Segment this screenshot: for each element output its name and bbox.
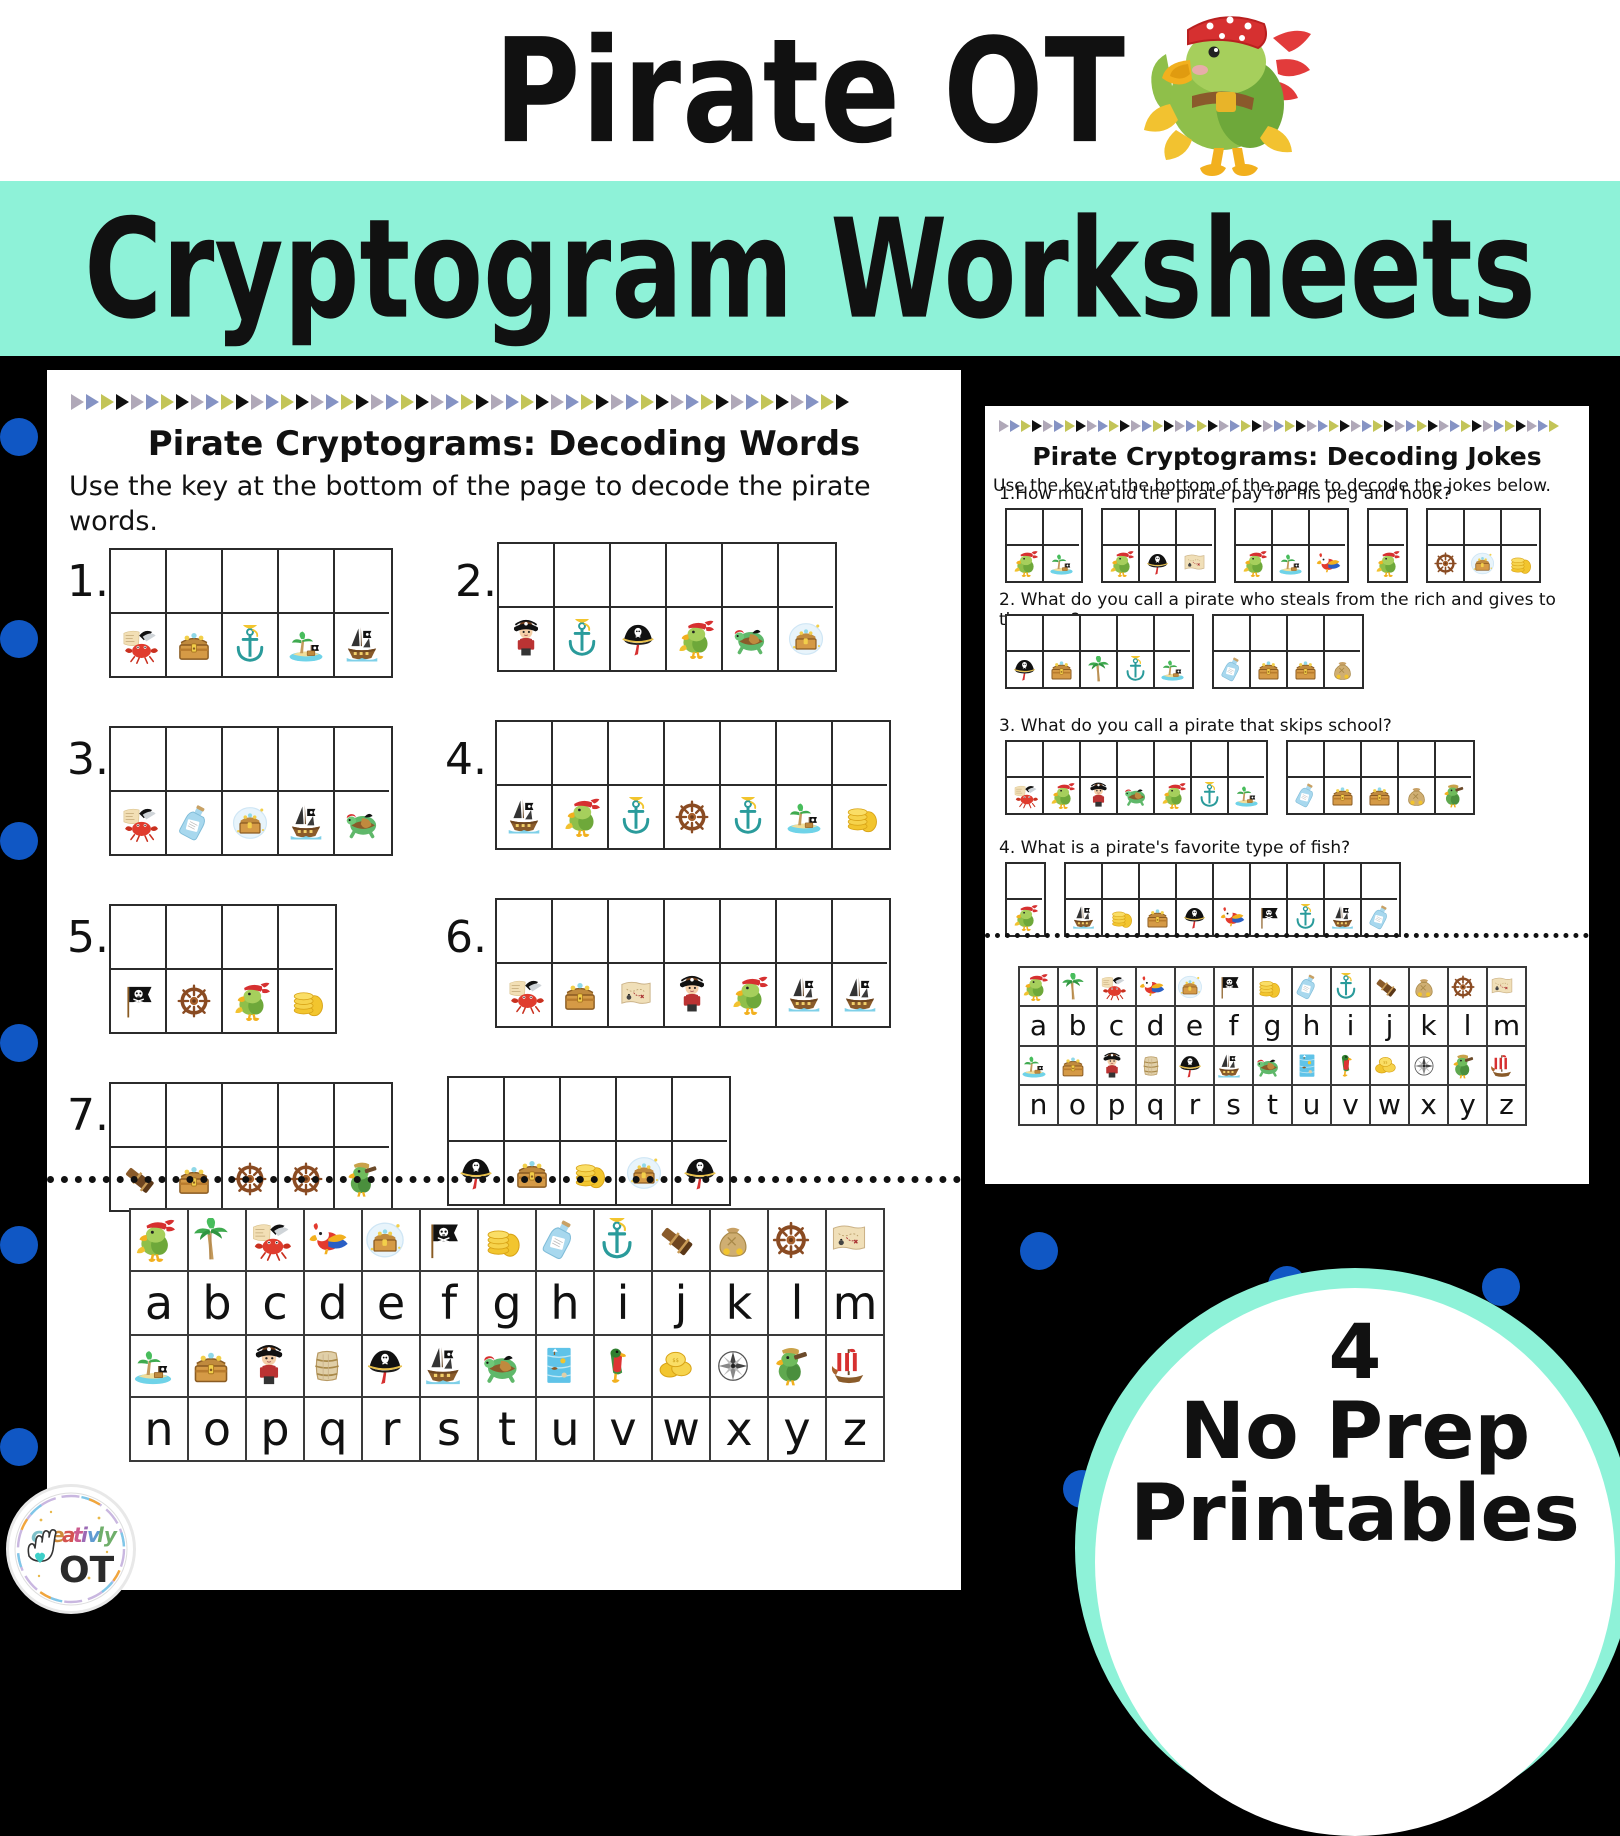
chevron-icon xyxy=(86,394,99,410)
puzzle-word-group xyxy=(1101,508,1216,583)
barrel-icon xyxy=(1137,1052,1165,1080)
puzzle-number: 4. xyxy=(445,734,487,785)
key-icon-cell xyxy=(768,1209,826,1271)
key-icon-cell xyxy=(1292,1046,1331,1085)
answer-blank[interactable] xyxy=(1251,864,1286,898)
answer-blank[interactable] xyxy=(1436,742,1471,776)
cryptogram-cell xyxy=(1251,616,1288,687)
answer-blank[interactable] xyxy=(1369,510,1404,544)
answer-blank[interactable] xyxy=(1229,742,1264,776)
answer-blank[interactable] xyxy=(1118,616,1153,650)
answer-blank[interactable] xyxy=(167,728,221,790)
answer-blank[interactable] xyxy=(553,900,607,962)
answer-blank[interactable] xyxy=(609,900,663,962)
clue-symbol xyxy=(673,1140,727,1204)
cryptogram-cell xyxy=(1288,864,1325,935)
treasure-bubble-icon xyxy=(786,619,826,659)
answer-blank[interactable] xyxy=(721,722,775,784)
answer-blank[interactable] xyxy=(779,544,833,606)
clue-symbol xyxy=(335,790,389,854)
badge-line2: Printables xyxy=(1130,1474,1580,1556)
coins-icon xyxy=(479,1218,523,1262)
answer-blank[interactable] xyxy=(167,550,221,612)
chevron-icon xyxy=(701,394,714,410)
cryptogram-cell xyxy=(777,722,833,848)
crab-icon xyxy=(504,975,544,1015)
clue-symbol xyxy=(167,968,221,1032)
key-icon-cell xyxy=(536,1335,594,1397)
pirate-hat-icon xyxy=(1144,550,1171,577)
chevron-icon xyxy=(1318,420,1328,432)
anchor-icon xyxy=(616,797,656,837)
cryptogram-cell xyxy=(1325,864,1362,935)
answer-blank[interactable] xyxy=(223,728,277,790)
answer-blank[interactable] xyxy=(111,550,165,612)
answer-blank[interactable] xyxy=(1177,864,1212,898)
spyglass-icon xyxy=(1371,973,1399,1001)
message-bottle-icon xyxy=(1218,656,1245,683)
coins-icon xyxy=(1506,550,1533,577)
clue-symbol xyxy=(1066,898,1101,935)
puzzle-word-group xyxy=(1064,862,1401,937)
svg-text:$$: $$ xyxy=(1383,1060,1387,1064)
answer-blank[interactable] xyxy=(1465,510,1500,544)
clue-symbol xyxy=(777,962,831,1026)
jolly-roger-flag-icon xyxy=(1255,904,1282,931)
cryptogram-cell xyxy=(1214,616,1251,687)
chevron-icon xyxy=(1373,420,1383,432)
answer-blank[interactable] xyxy=(1044,616,1079,650)
cryptogram-cell xyxy=(665,900,721,1026)
pirate-boy-icon xyxy=(1085,782,1112,809)
answer-blank[interactable] xyxy=(279,550,333,612)
answer-blank[interactable] xyxy=(223,1084,277,1146)
clue-symbol xyxy=(279,790,333,854)
clue-symbol xyxy=(1155,776,1190,813)
answer-blank[interactable] xyxy=(1007,864,1042,898)
key-icon-cell xyxy=(304,1209,362,1271)
pirate-boy-icon xyxy=(247,1344,291,1388)
cryptogram-cell xyxy=(279,728,335,854)
treasure-bubble-icon xyxy=(624,1153,664,1193)
clue-symbol xyxy=(617,1140,671,1204)
decor-dot xyxy=(1020,1232,1058,1270)
chevron-icon xyxy=(566,394,579,410)
ships-wheel-icon xyxy=(1432,550,1459,577)
answer-blank[interactable] xyxy=(665,722,719,784)
key-row-icons-top xyxy=(130,1209,884,1271)
chevron-icon xyxy=(1120,420,1130,432)
key-letter-cell: t xyxy=(1253,1085,1292,1125)
key-letter-cell: s xyxy=(420,1397,478,1461)
answer-blank[interactable] xyxy=(1192,742,1227,776)
money-bag-icon xyxy=(711,1218,755,1262)
chevron-icon xyxy=(1274,420,1284,432)
answer-blank[interactable] xyxy=(335,550,389,612)
cryptogram-key-table: abcdefghijklm$$nopqrstuvwxyz xyxy=(129,1208,885,1462)
chevron-icon xyxy=(446,394,459,410)
key-icon-cell xyxy=(1214,1046,1253,1085)
svg-text:OT: OT xyxy=(59,1550,115,1591)
map-icon xyxy=(1181,550,1208,577)
key-icon-cell: $$ xyxy=(1370,1046,1409,1085)
clue-symbol xyxy=(1369,544,1404,581)
parrot-red-icon xyxy=(1137,973,1165,1001)
answer-blank[interactable] xyxy=(1288,864,1323,898)
palm-tree-icon xyxy=(1059,973,1087,1001)
viking-ship-icon xyxy=(827,1344,871,1388)
puzzle-word-group xyxy=(109,726,393,856)
turtle-icon xyxy=(1254,1052,1282,1080)
answer-blank[interactable] xyxy=(673,1078,727,1140)
cryptogram-cell xyxy=(1066,864,1103,935)
answer-blank[interactable] xyxy=(1236,510,1271,544)
key-letter-cell: k xyxy=(1409,1006,1448,1046)
clue-symbol xyxy=(1044,544,1079,581)
answer-blank[interactable] xyxy=(497,722,551,784)
answer-blank[interactable] xyxy=(505,1078,559,1140)
cryptogram-cell xyxy=(1399,742,1436,813)
clue-symbol xyxy=(335,612,389,676)
answer-blank[interactable] xyxy=(167,906,221,968)
answer-blank[interactable] xyxy=(111,1084,165,1146)
answer-blank[interactable] xyxy=(497,900,551,962)
chevron-icon xyxy=(191,394,204,410)
puzzle-word-group xyxy=(109,904,337,1034)
cryptogram-cell xyxy=(1325,742,1362,813)
key-letter-cell: w xyxy=(652,1397,710,1461)
chevron-icon xyxy=(386,394,399,410)
chevron-icon xyxy=(791,394,804,410)
chevron-icon xyxy=(1252,420,1262,432)
chevron-icon xyxy=(1472,420,1482,432)
badge-count: 4 xyxy=(1329,1316,1382,1388)
cryptogram-cell xyxy=(111,906,167,1032)
answer-blank[interactable] xyxy=(833,900,887,962)
answer-blank[interactable] xyxy=(1103,864,1138,898)
chevron-icon xyxy=(1186,420,1196,432)
answer-blank[interactable] xyxy=(1066,864,1101,898)
anchor-icon xyxy=(230,625,270,665)
answer-blank[interactable] xyxy=(1140,510,1175,544)
answer-blank[interactable] xyxy=(279,906,333,968)
parrot-green-icon xyxy=(1011,904,1038,931)
clue-symbol xyxy=(279,968,333,1032)
answer-blank[interactable] xyxy=(1007,616,1042,650)
chevron-icon xyxy=(1307,420,1317,432)
answer-blank[interactable] xyxy=(1310,510,1345,544)
answer-blank[interactable] xyxy=(1155,616,1190,650)
chevron-border-top xyxy=(71,394,851,410)
answer-blank[interactable] xyxy=(1214,616,1249,650)
treasure-bubble-icon xyxy=(1469,550,1496,577)
chevron-icon xyxy=(431,394,444,410)
answer-blank[interactable] xyxy=(111,906,165,968)
answer-blank[interactable] xyxy=(665,900,719,962)
key-letter-cell: p xyxy=(246,1397,304,1461)
key-icon-cell xyxy=(1019,967,1058,1006)
cryptogram-cell xyxy=(1007,864,1044,935)
island-icon xyxy=(1048,550,1075,577)
cryptogram-cell xyxy=(1044,742,1081,813)
chevron-icon xyxy=(71,394,84,410)
key-icon-cell xyxy=(130,1335,188,1397)
answer-blank[interactable] xyxy=(1140,864,1175,898)
no-prep-badge: 4 No Prep Printables xyxy=(1095,1288,1615,1836)
clue-symbol xyxy=(1007,776,1042,813)
clue-symbol xyxy=(721,784,775,848)
treasure-chest-icon xyxy=(189,1344,233,1388)
cryptogram-cell xyxy=(1081,616,1118,687)
treasure-chest-icon xyxy=(1329,782,1356,809)
answer-blank[interactable] xyxy=(1155,742,1190,776)
key-letter-cell: d xyxy=(304,1271,362,1335)
answer-blank[interactable] xyxy=(1251,616,1286,650)
clue-symbol xyxy=(1214,898,1249,935)
cryptogram-cell xyxy=(665,722,721,848)
chevron-icon xyxy=(1230,420,1240,432)
cryptogram-cell xyxy=(1081,742,1118,813)
chevron-icon xyxy=(131,394,144,410)
joke-question: 3. What do you call a pirate that skips … xyxy=(999,716,1589,736)
answer-blank[interactable] xyxy=(1325,616,1360,650)
answer-blank[interactable] xyxy=(1288,742,1323,776)
answer-blank[interactable] xyxy=(1428,510,1463,544)
chevron-icon xyxy=(581,394,594,410)
cryptogram-cell xyxy=(1288,742,1325,813)
decor-dot xyxy=(0,418,38,456)
answer-blank[interactable] xyxy=(833,722,887,784)
cryptogram-cell xyxy=(553,900,609,1026)
ships-wheel-icon xyxy=(1449,973,1477,1001)
key-icon-cell xyxy=(130,1209,188,1271)
answer-blank[interactable] xyxy=(1273,510,1308,544)
key-letter-cell: q xyxy=(304,1397,362,1461)
answer-blank[interactable] xyxy=(1044,742,1079,776)
chevron-icon xyxy=(1527,420,1537,432)
chevron-icon xyxy=(1285,420,1295,432)
answer-blank[interactable] xyxy=(1044,510,1079,544)
cryptogram-cell xyxy=(1177,864,1214,935)
answer-blank[interactable] xyxy=(499,544,553,606)
answer-blank[interactable] xyxy=(1118,742,1153,776)
puzzle-word-group xyxy=(1234,508,1349,583)
clue-symbol xyxy=(611,606,665,670)
clue-symbol xyxy=(1155,650,1190,687)
answer-blank[interactable] xyxy=(335,1084,389,1146)
island-icon xyxy=(784,797,824,837)
answer-blank[interactable] xyxy=(667,544,721,606)
parrot-green-icon xyxy=(1373,550,1400,577)
key-icon-cell xyxy=(710,1209,768,1271)
cryptogram-cell xyxy=(553,722,609,848)
cryptogram-cell xyxy=(1103,864,1140,935)
parrot-red-icon xyxy=(1314,550,1341,577)
answer-blank[interactable] xyxy=(223,550,277,612)
answer-blank[interactable] xyxy=(279,728,333,790)
answer-blank[interactable] xyxy=(777,900,831,962)
key-icon-cell xyxy=(420,1209,478,1271)
key-icon-cell xyxy=(536,1209,594,1271)
answer-blank[interactable] xyxy=(1325,742,1360,776)
coins-stack-icon: $$ xyxy=(1371,1052,1399,1080)
chevron-icon xyxy=(281,394,294,410)
chevron-icon xyxy=(716,394,729,410)
clue-symbol xyxy=(449,1140,503,1204)
parrot-red-icon xyxy=(305,1218,349,1262)
answer-blank[interactable] xyxy=(555,544,609,606)
parrot-green-icon xyxy=(1020,973,1048,1001)
chevron-icon xyxy=(746,394,759,410)
puzzle-word-group xyxy=(1367,508,1408,583)
key-letter-cell: b xyxy=(1058,1006,1097,1046)
answer-blank[interactable] xyxy=(1103,510,1138,544)
anchor-icon xyxy=(1122,656,1149,683)
puzzle-word-group xyxy=(1286,740,1475,815)
key-icon-cell xyxy=(1136,1046,1175,1085)
key-icon-cell xyxy=(1487,967,1526,1006)
key-icon-cell: $$ xyxy=(652,1335,710,1397)
answer-blank[interactable] xyxy=(553,722,607,784)
key-letter-cell: o xyxy=(188,1397,246,1461)
ship-icon xyxy=(342,625,382,665)
key-icon-cell xyxy=(1409,967,1448,1006)
chevron-icon xyxy=(311,394,324,410)
cryptogram-cell xyxy=(167,550,223,676)
chevron-icon xyxy=(656,394,669,410)
chevron-icon xyxy=(326,394,339,410)
puzzle-number: 1. xyxy=(67,556,109,607)
chevron-icon xyxy=(146,394,159,410)
chevron-icon xyxy=(1351,420,1361,432)
answer-blank[interactable] xyxy=(279,1084,333,1146)
cryptogram-cell xyxy=(1229,742,1266,813)
puzzle-number: 3. xyxy=(67,734,109,785)
clue-symbol xyxy=(721,962,775,1026)
answer-blank[interactable] xyxy=(223,906,277,968)
cryptogram-cell xyxy=(1325,616,1362,687)
answer-blank[interactable] xyxy=(1007,510,1042,544)
key-letter-cell: b xyxy=(188,1271,246,1335)
answer-blank[interactable] xyxy=(723,544,777,606)
clue-symbol xyxy=(1140,898,1175,935)
island-icon xyxy=(1020,1052,1048,1080)
chevron-icon xyxy=(1175,420,1185,432)
clue-symbol xyxy=(1192,776,1227,813)
chevron-icon xyxy=(506,394,519,410)
pirate-parrot-icon xyxy=(1118,8,1318,176)
anchor-icon xyxy=(1196,782,1223,809)
key-letter-cell: x xyxy=(710,1397,768,1461)
clue-symbol xyxy=(1103,898,1138,935)
money-bag-icon xyxy=(1410,973,1438,1001)
joke-question: 1.How much did the pirate pay for his pe… xyxy=(999,484,1589,504)
cryptogram-cell xyxy=(167,728,223,854)
cryptogram-cell xyxy=(223,906,279,1032)
cryptogram-cell xyxy=(1362,864,1399,935)
clue-symbol xyxy=(1118,776,1153,813)
cryptogram-cell xyxy=(1502,510,1539,581)
cryptogram-cell xyxy=(721,900,777,1026)
answer-blank[interactable] xyxy=(1288,616,1323,650)
answer-blank[interactable] xyxy=(1081,616,1116,650)
clue-symbol xyxy=(1362,776,1397,813)
answer-blank[interactable] xyxy=(111,728,165,790)
key-letter-cell: k xyxy=(710,1271,768,1335)
chevron-icon xyxy=(1219,420,1229,432)
answer-blank[interactable] xyxy=(611,544,665,606)
answer-blank[interactable] xyxy=(449,1078,503,1140)
treasure-chest-icon xyxy=(512,1153,552,1193)
answer-blank[interactable] xyxy=(617,1078,671,1140)
answer-blank[interactable] xyxy=(721,900,775,962)
clue-symbol xyxy=(665,784,719,848)
answer-blank[interactable] xyxy=(1214,864,1249,898)
answer-blank[interactable] xyxy=(777,722,831,784)
answer-blank[interactable] xyxy=(609,722,663,784)
crab-icon xyxy=(1011,782,1038,809)
answer-blank[interactable] xyxy=(167,1084,221,1146)
badge-line1: No Prep xyxy=(1180,1392,1530,1474)
chevron-icon xyxy=(836,394,849,410)
clue-symbol xyxy=(1428,544,1463,581)
answer-blank[interactable] xyxy=(1007,742,1042,776)
answer-blank[interactable] xyxy=(1502,510,1537,544)
pirate-hat-icon xyxy=(1181,904,1208,931)
ship-icon xyxy=(1215,1052,1243,1080)
answer-blank[interactable] xyxy=(1325,864,1360,898)
clue-symbol xyxy=(223,790,277,854)
treasure-chest-icon xyxy=(560,975,600,1015)
answer-blank[interactable] xyxy=(1399,742,1434,776)
chevron-icon xyxy=(1439,420,1449,432)
money-bag-icon xyxy=(1329,656,1356,683)
cryptogram-cell xyxy=(279,1084,335,1210)
cryptogram-cell xyxy=(497,900,553,1026)
answer-blank[interactable] xyxy=(335,728,389,790)
clue-symbol xyxy=(1465,544,1500,581)
key-icon-cell xyxy=(1097,967,1136,1006)
chevron-icon xyxy=(551,394,564,410)
key-icon-cell xyxy=(768,1335,826,1397)
chevron-icon xyxy=(1461,420,1471,432)
cryptogram-cell xyxy=(111,1084,167,1210)
clue-symbol xyxy=(1118,650,1153,687)
anchor-icon xyxy=(595,1218,639,1262)
answer-blank[interactable] xyxy=(1081,742,1116,776)
cryptogram-cell xyxy=(279,550,335,676)
treasure-chest-icon xyxy=(1144,904,1171,931)
cryptogram-cell xyxy=(1044,616,1081,687)
answer-blank[interactable] xyxy=(561,1078,615,1140)
answer-blank[interactable] xyxy=(1177,510,1212,544)
clue-symbol xyxy=(833,784,887,848)
jolly-roger-flag-icon xyxy=(118,981,158,1021)
cryptogram-cell xyxy=(335,550,391,676)
answer-blank[interactable] xyxy=(1362,742,1397,776)
parrot-green-icon xyxy=(1240,550,1267,577)
clue-symbol xyxy=(555,606,609,670)
cryptogram-cell xyxy=(609,722,665,848)
chevron-icon xyxy=(1417,420,1427,432)
chevron-icon xyxy=(236,394,249,410)
cryptogram-cell xyxy=(223,728,279,854)
chevron-icon xyxy=(1076,420,1086,432)
key-letter-cell: w xyxy=(1370,1085,1409,1125)
clue-symbol xyxy=(1081,650,1116,687)
cryptogram-cell xyxy=(1310,510,1347,581)
answer-blank[interactable] xyxy=(1362,864,1397,898)
